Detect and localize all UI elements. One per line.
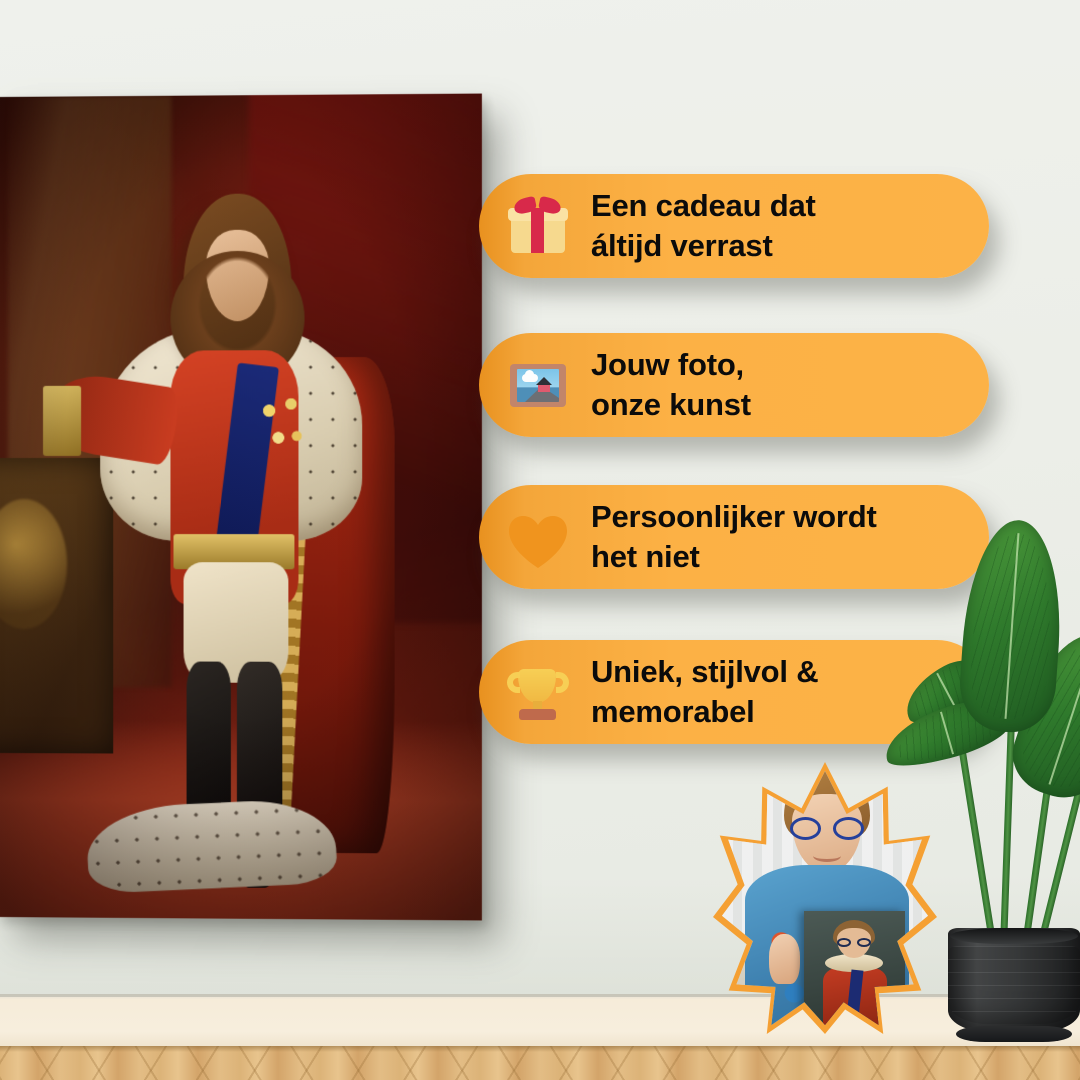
plant-saucer: [956, 1026, 1072, 1042]
plant-leaf: [957, 517, 1068, 735]
benefit-pill-gift[interactable]: Een cadeau dat áltijd verrast: [479, 174, 989, 278]
benefit-pill-photo[interactable]: Jouw foto, onze kunst: [479, 333, 989, 437]
child-glasses: [790, 817, 864, 840]
plant-stem: [958, 745, 997, 950]
royal-portrait-canvas[interactable]: [0, 94, 482, 921]
heart-icon: [507, 506, 569, 568]
benefit-pill-label: Een cadeau dat áltijd verrast: [591, 186, 816, 265]
benefit-pill-personal[interactable]: Persoonlijker wordt het niet: [479, 485, 989, 589]
framed-picture-icon: [507, 354, 569, 416]
benefit-pill-label: Persoonlijker wordt het niet: [591, 497, 877, 576]
benefit-pill-label: Uniek, stijlvol & memorabel: [591, 652, 818, 731]
bird-of-paradise-plant: [930, 548, 1080, 1048]
trophy-icon: [507, 661, 569, 723]
thumbs-up-hand: [769, 934, 800, 985]
plant-pot: [948, 928, 1080, 1032]
customer-photo-starburst-badge[interactable]: [713, 762, 937, 1034]
ad-creative-canvas: Een cadeau dat áltijd verrast Jouw foto,…: [0, 0, 1080, 1080]
held-portrait-canvas: [804, 911, 905, 1025]
portrait-artwork: [0, 94, 482, 921]
gift-icon: [507, 195, 569, 257]
benefit-pill-label: Jouw foto, onze kunst: [591, 345, 751, 424]
portrait-vignette: [0, 94, 482, 921]
herringbone-parquet-floor: [0, 1046, 1080, 1080]
